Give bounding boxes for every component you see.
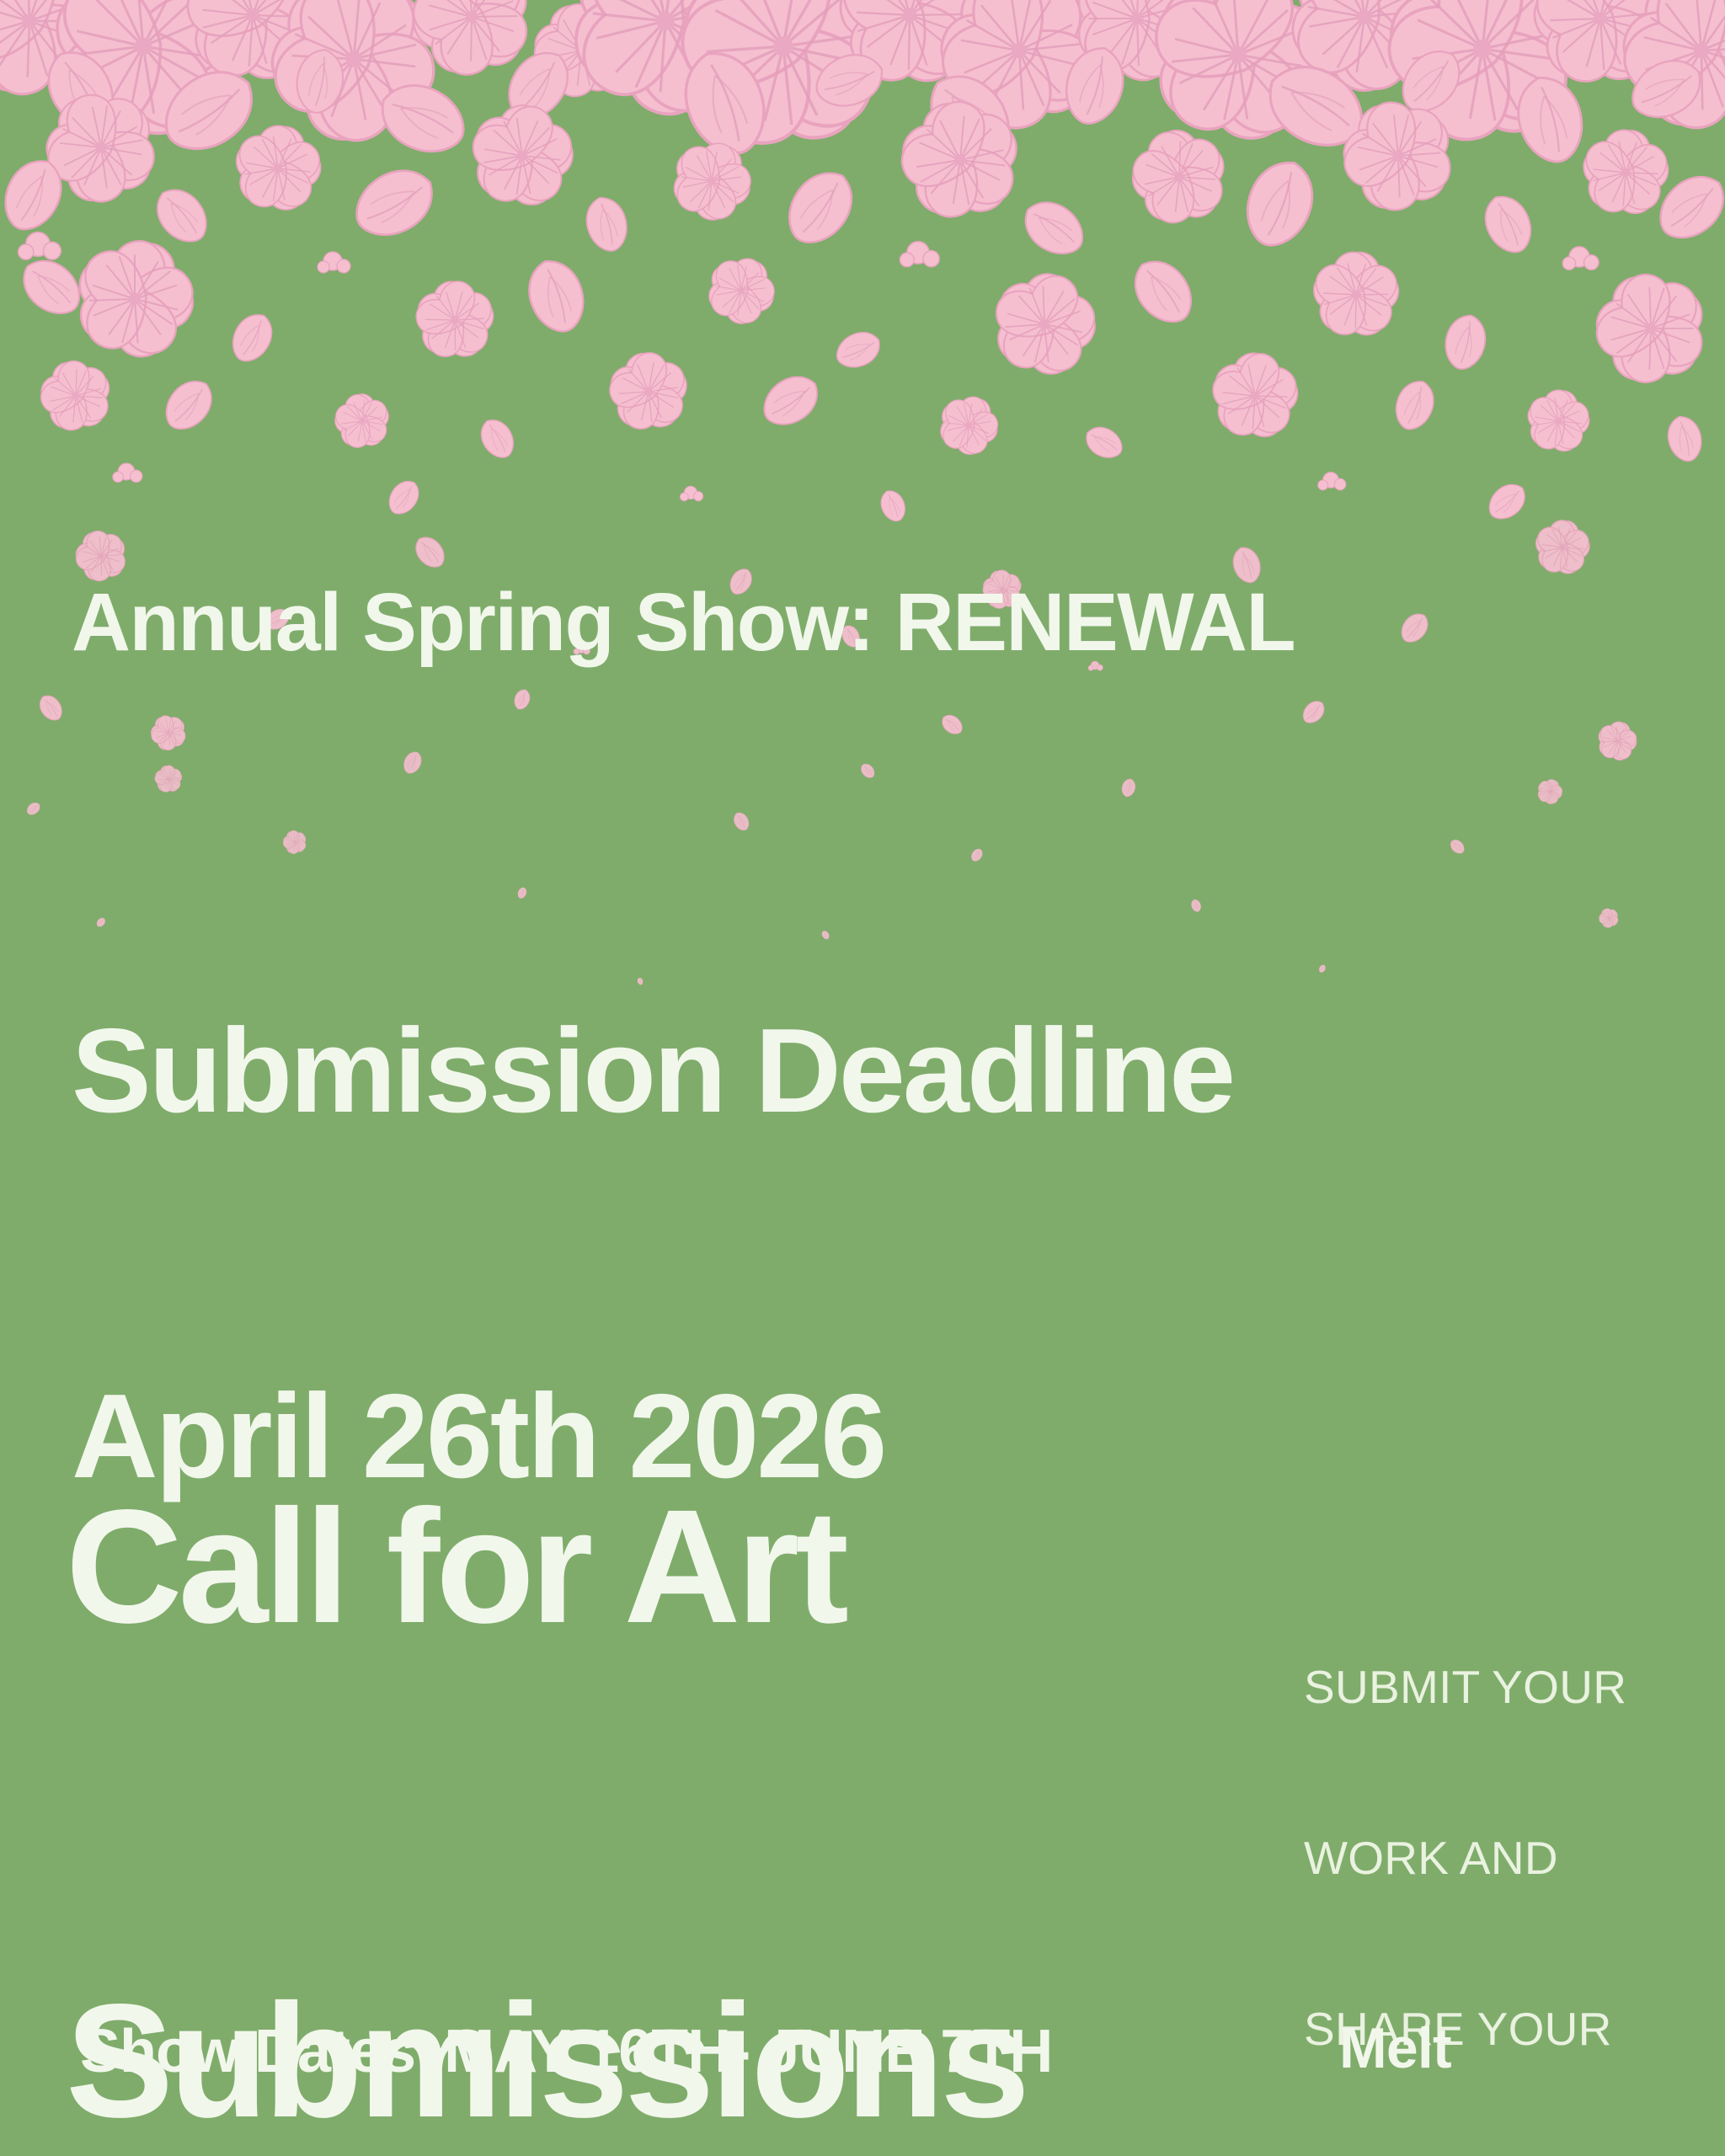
show-dates-label: Show Dates — [80, 2021, 415, 2082]
show-dates-value: MAY 16TH- JUNE 7TH — [444, 2021, 1052, 2082]
logo-line-melt: Melt — [1339, 2018, 1662, 2079]
blurb-line-2: WORK AND — [1304, 1830, 1683, 1887]
call-for-art-headline: Call for Art Submissions — [66, 1154, 1026, 2156]
blurb-line-1: SUBMIT YOUR — [1304, 1659, 1683, 1716]
poster-text-layer: Annual Spring Show: RENEWAL Submission D… — [0, 0, 1725, 2156]
show-dates-block: Show Dates MAY 16TH- JUNE 7TH — [80, 2021, 1052, 2082]
gallery-logo: Melt STUDIO & GALLERY — [1339, 1895, 1662, 2156]
call-title-line-1: Call for Art — [66, 1484, 1026, 1649]
poster-canvas: Annual Spring Show: RENEWAL Submission D… — [0, 0, 1725, 2156]
show-kicker-title: Annual Spring Show: RENEWAL — [72, 581, 1295, 663]
deadline-line-1: Submission Deadline — [72, 1011, 1233, 1133]
